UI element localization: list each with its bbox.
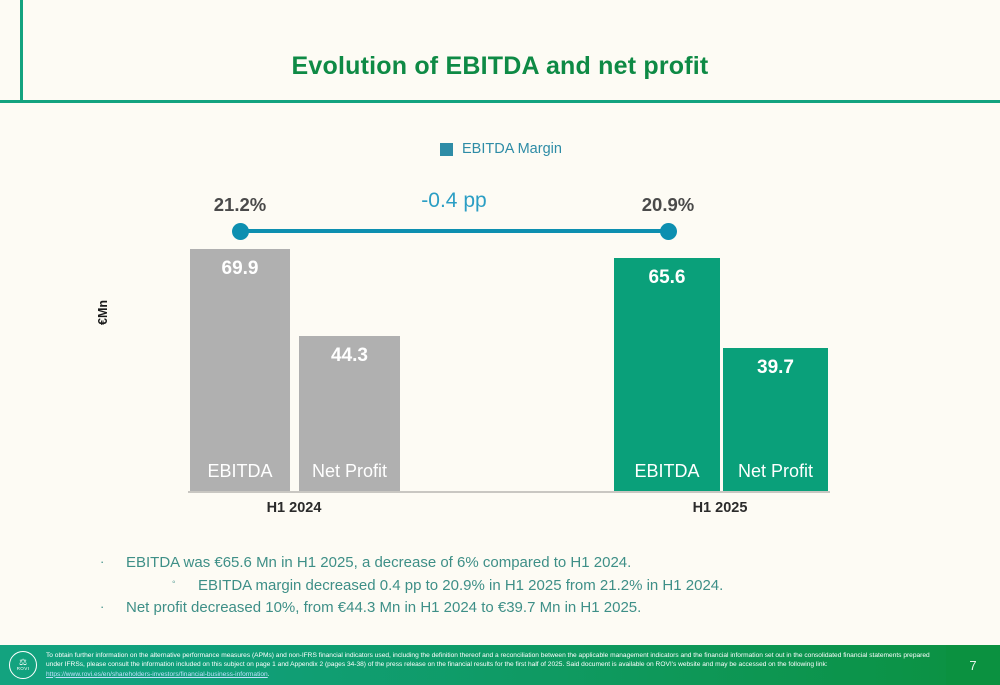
footer-bar: ⚖ ROVI To obtain further information on … [0, 645, 1000, 685]
bullet-item: ◦EBITDA margin decreased 0.4 pp to 20.9%… [100, 575, 920, 598]
bar-series-label: EBITDA [614, 461, 720, 482]
logo-wordmark: ROVI [17, 666, 30, 672]
bar-h1-2024-net-profit: 44.3Net Profit [299, 336, 400, 492]
bar-value-label: 39.7 [723, 357, 828, 379]
ebitda-margin-marker-h1-2024 [232, 223, 249, 240]
bar-series-label: Net Profit [299, 461, 400, 482]
bar-h1-2024-ebitda: 69.9EBITDA [190, 249, 290, 492]
bullet-list: ·EBITDA was €65.6 Mn in H1 2025, a decre… [100, 552, 920, 620]
ebitda-margin-value-h1-2024: 21.2% [180, 194, 300, 216]
bar-h1-2025-net-profit: 39.7Net Profit [723, 348, 828, 492]
x-axis-baseline [188, 491, 830, 493]
footer-disclaimer: To obtain further information on the alt… [46, 651, 946, 679]
slide: Evolution of EBITDA and net profit EBITD… [0, 0, 1000, 685]
bar-value-label: 69.9 [190, 258, 290, 280]
footer-disclaimer-link[interactable]: https://www.rovi.es/en/shareholders-inve… [46, 671, 268, 678]
ebitda-margin-connector-line [240, 229, 668, 233]
bullet-text: Net profit decreased 10%, from €44.3 Mn … [126, 597, 920, 620]
bullet-marker-icon: ◦ [172, 575, 198, 590]
bar-series-label: Net Profit [723, 461, 828, 482]
scales-icon: ⚖ [19, 658, 27, 666]
logo-circle-icon: ⚖ ROVI [9, 651, 37, 679]
footer-disclaimer-text: To obtain further information on the alt… [46, 652, 930, 668]
bars-container: 69.9EBITDA44.3Net Profit65.6EBITDA39.7Ne… [0, 0, 1000, 492]
ebitda-margin-marker-h1-2025 [660, 223, 677, 240]
ebitda-margin-delta-label: -0.4 pp [344, 189, 564, 213]
bar-chart: €Mn 69.9EBITDA44.3Net Profit65.6EBITDA39… [0, 0, 1000, 540]
bullet-item: ·Net profit decreased 10%, from €44.3 Mn… [100, 597, 920, 620]
x-axis-category-h1-2025: H1 2025 [620, 500, 820, 516]
bullet-item: ·EBITDA was €65.6 Mn in H1 2025, a decre… [100, 552, 920, 575]
footer-disclaimer-tail: . [268, 671, 270, 678]
bullet-text: EBITDA was €65.6 Mn in H1 2025, a decrea… [126, 552, 920, 575]
bar-value-label: 65.6 [614, 267, 720, 289]
bullet-marker-icon: · [100, 597, 126, 617]
page-number: 7 [946, 645, 1000, 685]
bar-series-label: EBITDA [190, 461, 290, 482]
bar-h1-2025-ebitda: 65.6EBITDA [614, 258, 720, 492]
ebitda-margin-value-h1-2025: 20.9% [608, 194, 728, 216]
rovi-logo: ⚖ ROVI [0, 651, 46, 679]
bullet-marker-icon: · [100, 552, 126, 572]
bar-value-label: 44.3 [299, 345, 400, 367]
bullet-text: EBITDA margin decreased 0.4 pp to 20.9% … [198, 575, 920, 598]
x-axis-category-h1-2024: H1 2024 [194, 500, 394, 516]
